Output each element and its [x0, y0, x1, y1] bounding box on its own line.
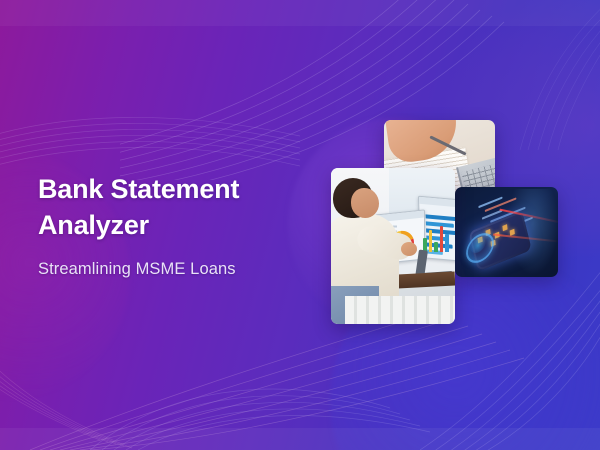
- analyst-photo-canvas: [331, 168, 455, 324]
- promotional-banner: Bank Statement Analyzer Streamlining MSM…: [0, 0, 600, 450]
- band-bottom: [0, 428, 600, 450]
- line-mesh-bottom-left: [0, 330, 150, 450]
- fintech-photo-canvas: [455, 187, 558, 277]
- monitor-toolbar: [419, 197, 455, 208]
- band-top: [0, 0, 600, 26]
- vertical-bar-chart-icon: [423, 222, 449, 252]
- data-analyst-dashboard-photo: [331, 168, 455, 324]
- page-title: Bank Statement Analyzer: [38, 172, 318, 244]
- person-face: [351, 188, 379, 218]
- title-line-2: Analyzer: [38, 210, 149, 240]
- page-subtitle: Streamlining MSME Loans: [38, 260, 318, 279]
- person-hand: [401, 242, 417, 256]
- foreground-furniture: [345, 296, 455, 324]
- title-line-1: Bank Statement: [38, 174, 239, 204]
- line-mesh-top-left-curves: [0, 50, 300, 180]
- fintech-mobile-data-photo: [455, 187, 558, 277]
- headline-block: Bank Statement Analyzer Streamlining MSM…: [38, 172, 318, 279]
